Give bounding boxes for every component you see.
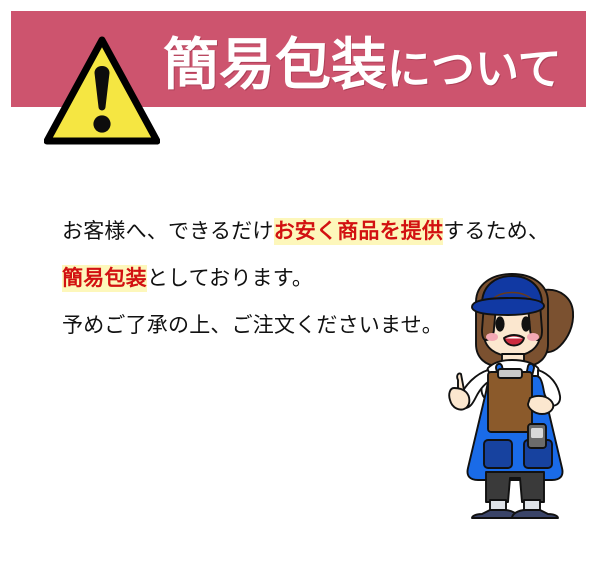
cheek-right: [527, 333, 539, 341]
hand-right: [528, 396, 553, 414]
warning-triangle-icon: [44, 36, 160, 148]
clipboard: [488, 372, 532, 432]
eye-left: [495, 316, 504, 331]
page-title-kanji: 簡易包装: [163, 33, 387, 98]
clipboard-clip: [498, 369, 522, 378]
page-title: 簡易包装について: [163, 31, 583, 101]
shoe-right: [512, 510, 558, 518]
notice-line-2-highlight: 簡易包装: [62, 265, 147, 292]
staff-character-illustration: [432, 272, 598, 520]
pocket-device-screen: [531, 428, 543, 438]
notice-line-1-pre: お客様へ、できるだけ: [62, 219, 274, 243]
page-title-kana: について: [387, 44, 562, 95]
notice-line-1-post: するため、: [443, 219, 549, 243]
eye-right: [521, 316, 530, 331]
apron-pocket-left: [484, 440, 512, 468]
hand-left: [449, 388, 469, 410]
cap-brim: [472, 298, 544, 315]
notice-line-1: お客様へ、できるだけお安く商品を提供するため、: [62, 208, 532, 255]
notice-line-1-highlight: お安く商品を提供: [274, 218, 444, 245]
shoe-left: [472, 510, 518, 518]
shorts: [486, 472, 544, 502]
notice-line-2-post: としております。: [147, 266, 313, 290]
mouth: [504, 335, 524, 346]
cheek-left: [486, 333, 498, 341]
notice-line-3-pre: 予めご了承の上、ご注文くださいませ。: [62, 313, 443, 337]
